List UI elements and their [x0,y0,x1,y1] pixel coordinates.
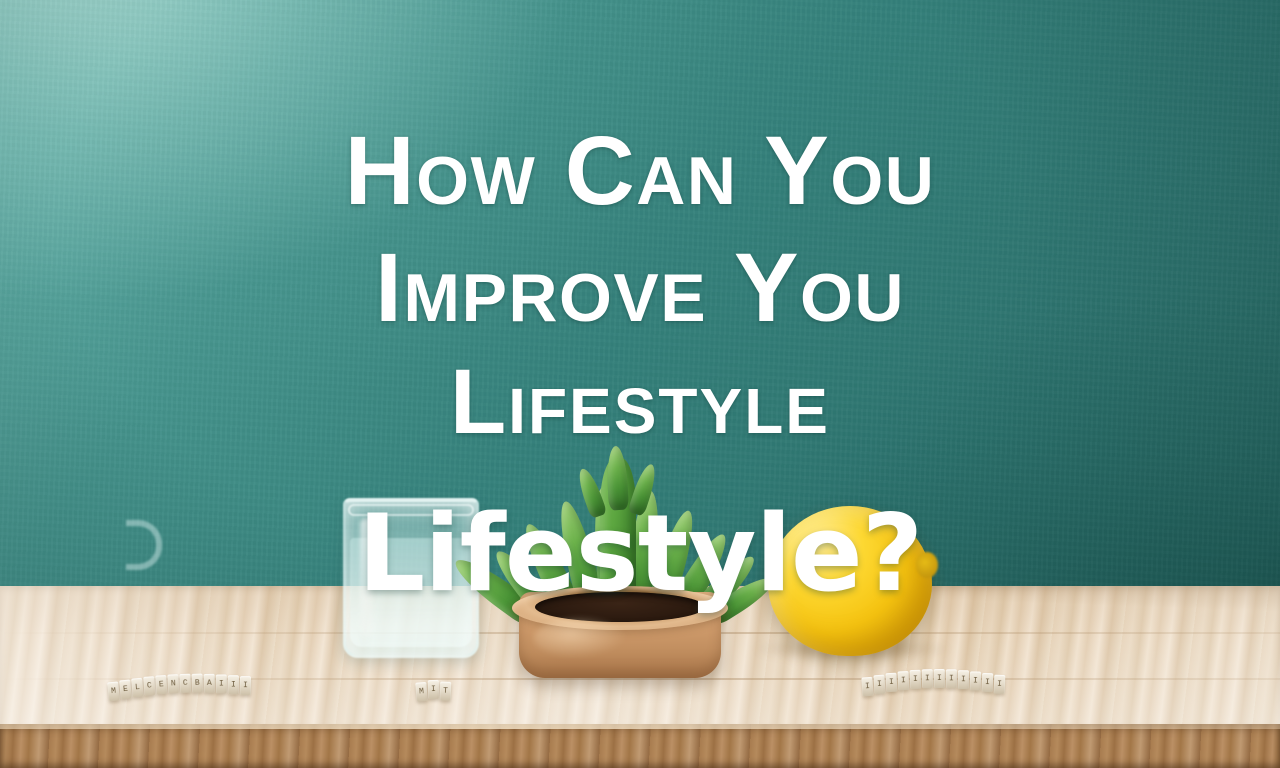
alphabet-bead: N [167,674,179,694]
alphabet-bead: T [440,682,451,701]
water-glass [343,498,479,658]
alphabet-bead: I [885,673,897,693]
alphabet-bead: I [946,669,957,688]
alphabet-bead: I [922,669,933,688]
alphabet-bead: E [155,675,167,695]
alphabet-bead: I [970,671,981,690]
pot-soil [535,592,705,622]
alphabet-bead: C [143,676,155,696]
table-edge [0,724,1280,768]
alphabet-bead: I [910,670,922,689]
alphabet-bead: I [898,671,910,690]
alphabet-bead: I [428,680,439,699]
alphabet-bead: I [861,677,873,697]
alphabet-bead: M [415,682,427,702]
plant-leaf-top [606,446,629,511]
alphabet-bead: I [228,675,239,694]
alphabet-bead: I [934,669,945,688]
glass-rim [348,504,474,516]
alphabet-bead: I [216,674,227,693]
lemon [768,506,932,656]
alphabet-bead: A [204,674,215,693]
alphabet-bead: C [179,674,191,693]
alphabet-bead: B [192,674,204,693]
alphabet-beads-right: IIIIIIIIIIII [862,675,1006,697]
pot-highlight [534,618,626,658]
table-edge-highlight [0,724,1280,729]
alphabet-bead: I [240,676,251,695]
banner-scene: MELCENCBAIII MIT IIIIIIIIIIII How Can Yo… [0,0,1280,768]
alphabet-beads-center: MIT [416,682,452,702]
alphabet-bead: I [873,675,885,695]
alphabet-bead: I [994,675,1006,694]
lemon-tip [916,552,938,578]
alphabet-bead: L [131,678,143,698]
alphabet-bead: I [982,673,993,692]
alphabet-bead: E [119,680,132,700]
glass-highlight [360,518,373,636]
alphabet-bead: M [107,681,120,701]
alphabet-bead: I [958,670,969,689]
